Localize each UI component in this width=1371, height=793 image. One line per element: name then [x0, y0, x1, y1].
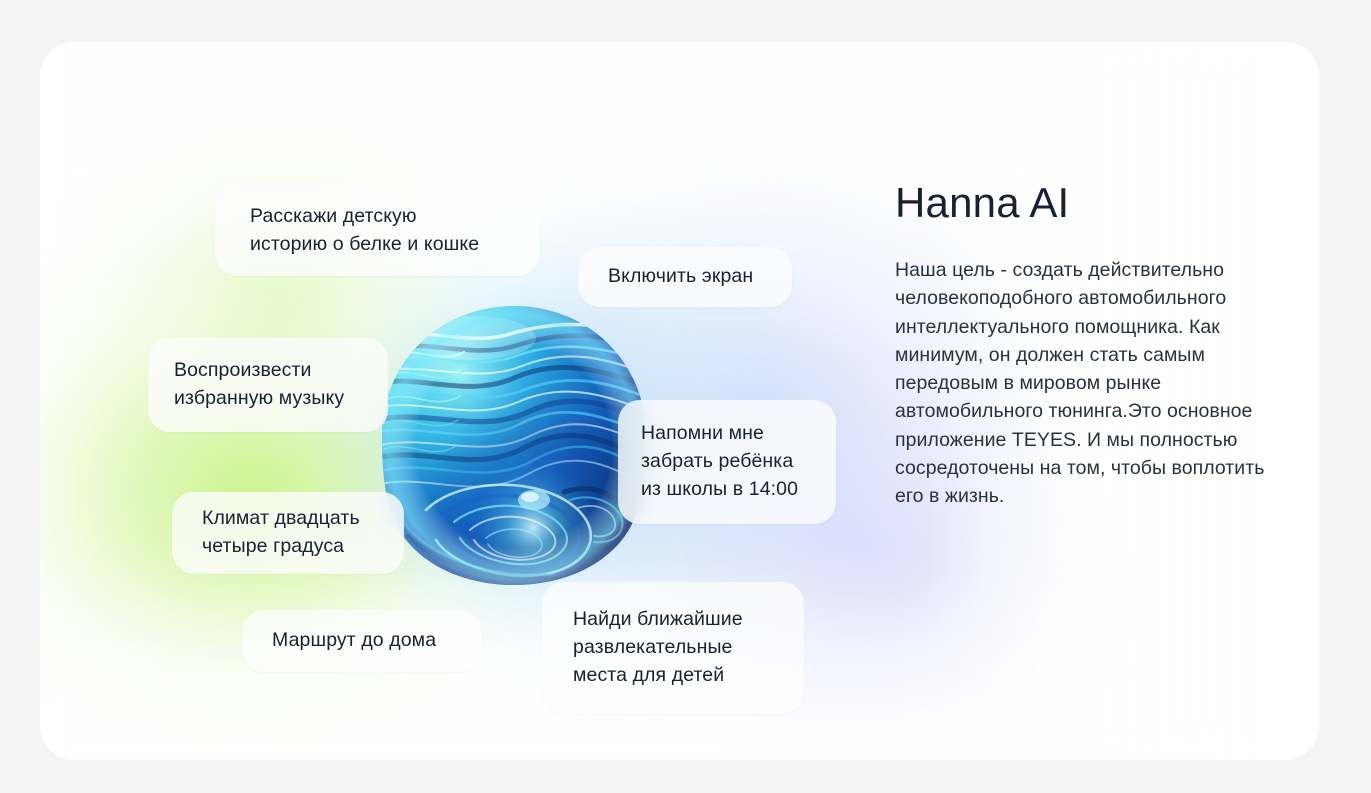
bubble-places-line-3: места для детей [573, 662, 804, 690]
bubble-reminder-line-3: из школы в 14:00 [641, 476, 836, 504]
bubble-reminder-line-2: забрать ребёнка [641, 448, 836, 476]
bubble-route[interactable]: Маршрут до дома [242, 610, 482, 672]
hanna-ai-orb [378, 304, 650, 587]
bubble-climate[interactable]: Климат двадцать четыре градуса [172, 492, 404, 574]
bubble-climate-line-1: Климат двадцать [202, 505, 404, 533]
bubble-story[interactable]: Расскажи детскую историю о белке и кошке [215, 186, 540, 276]
bubble-music-line-1: Воспроизвести [174, 357, 388, 385]
bubble-climate-line-2: четыре градуса [202, 533, 404, 561]
bubble-places[interactable]: Найди ближайшие развлекательные места дл… [542, 582, 804, 714]
bubble-route-line-1: Маршрут до дома [272, 627, 482, 655]
bubble-music[interactable]: Воспроизвести избранную музыку [148, 338, 388, 432]
bubble-story-line-1: Расскажи детскую [250, 203, 540, 231]
bubble-reminder[interactable]: Напомни мне забрать ребёнка из школы в 1… [618, 400, 836, 524]
bubble-reminder-line-1: Напомни мне [641, 420, 836, 448]
hanna-ai-card: Расскажи детскую историю о белке и кошке… [40, 42, 1319, 760]
bubble-screen[interactable]: Включить экран [578, 247, 792, 307]
bubble-screen-line-1: Включить экран [608, 263, 792, 291]
bubble-story-line-2: историю о белке и кошке [250, 231, 540, 259]
bubble-places-line-2: развлекательные [573, 634, 804, 662]
bubble-music-line-2: избранную музыку [174, 385, 388, 413]
info-description: Наша цель - создать действительно челове… [895, 256, 1293, 510]
page-title: Hanna AI [895, 182, 1295, 224]
bubble-places-line-1: Найди ближайшие [573, 606, 804, 634]
info-panel: Hanna AI Наша цель - создать действитель… [895, 182, 1295, 510]
